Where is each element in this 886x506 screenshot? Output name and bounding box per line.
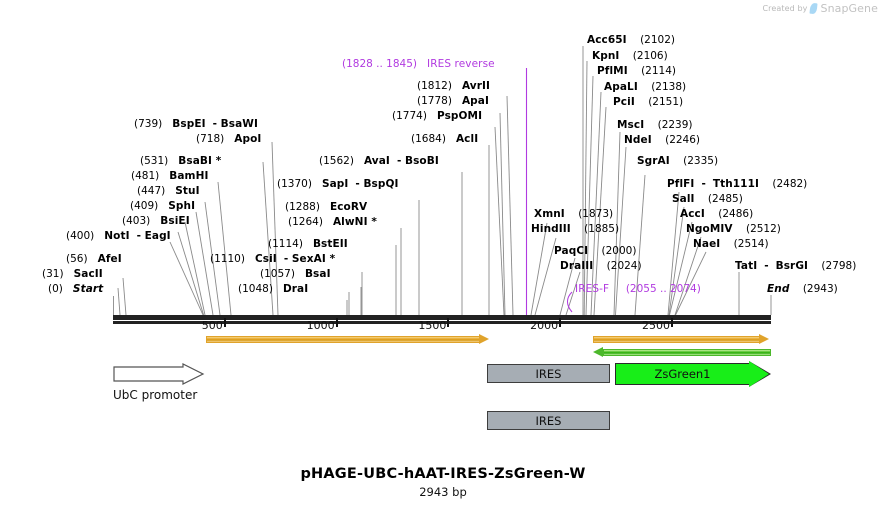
site-label-avrii[interactable]: (1812) AvrII [417,80,490,92]
leader-lines [0,0,886,506]
ruler-tick-label-1500: 1500 [402,319,446,332]
site-label-csii-sexai[interactable]: (1110) CsiI - SexAI * [210,253,335,265]
ruler-tick-1000 [336,318,338,327]
site-label-bsiei[interactable]: (403) BsiEI [122,215,190,227]
site-label-kpni[interactable]: KpnI (2106) [592,50,668,62]
ruler-tick-1500 [447,318,449,327]
site-label-end[interactable]: End (2943) [767,283,838,295]
page-title: pHAGE-UBC-hAAT-IRES-ZsGreen-W [0,466,886,482]
site-label-naei[interactable]: NaeI (2514) [693,238,769,250]
plasmid-length: 2943 bp [0,485,886,499]
site-label-sapi-bspqi[interactable]: (1370) SapI - BspQI [277,178,399,190]
feature-ires-row1[interactable]: IRES [487,364,610,383]
region-arrow-green-left [593,348,771,357]
ruler-tick-label-2000: 2000 [514,319,558,332]
site-label-acci[interactable]: AccI (2486) [680,208,753,220]
ruler-tick-label-1000: 1000 [291,319,335,332]
primer-range: (1828 .. 1845) [342,58,417,70]
site-label-acc65i[interactable]: Acc65I (2102) [587,34,675,46]
site-label-stui[interactable]: (447) StuI [137,185,200,197]
site-label-afei[interactable]: (56) AfeI [66,253,122,265]
ruler-tick-label-2500: 2500 [626,319,670,332]
site-label-paqci[interactable]: PaqCI (2000) [554,245,636,257]
site-label-alwni[interactable]: (1264) AlwNI * [288,216,377,228]
site-label-sacii[interactable]: (31) SacII [42,268,103,280]
site-label-draiii[interactable]: DraIII (2024) [560,260,642,272]
site-label-sphi[interactable]: (409) SphI [130,200,195,212]
ruler-tick-label-500: 500 [179,319,223,332]
site-label-msci[interactable]: MscI (2239) [617,119,693,131]
site-label-pflmi[interactable]: PflMI (2114) [597,65,676,77]
region-arrow-orange-right [593,335,771,344]
site-label-hindiii[interactable]: HindIII (1885) [531,223,619,235]
site-label-noti-eagi[interactable]: (400) NotI - EagI [66,230,171,242]
site-label-bstell[interactable]: (1114) BstEII [268,238,348,250]
site-label-start[interactable]: (0) Start [48,283,103,295]
site-label-apali[interactable]: ApaLI (2138) [604,81,686,93]
site-label-bamhi[interactable]: (481) BamHI [131,170,209,182]
region-arrow-orange-left [206,335,491,344]
feature-label-ubc-promoter: UbC promoter [113,388,197,402]
ruler-tick-2500 [671,318,673,327]
site-label-apai[interactable]: (1778) ApaI [417,95,489,107]
site-label-pflfi-tth111i[interactable]: PflFI - Tth111I (2482) [667,178,807,190]
ruler-tick-500 [224,318,226,327]
site-label-apoi[interactable]: (718) ApoI [196,133,261,145]
site-label-bsabi[interactable]: (531) BsaBI * [140,155,221,167]
site-label-bsai[interactable]: (1057) BsaI [260,268,331,280]
site-label-xmni[interactable]: XmnI (1873) [534,208,613,220]
site-label-avai-bsobi[interactable]: (1562) AvaI - BsoBI [319,155,439,167]
site-label-acli[interactable]: (1684) AclI [411,133,478,145]
primer-label-ires-reverse[interactable]: (1828 .. 1845) IRES reverse [342,58,495,70]
site-label-sali[interactable]: SalI (2485) [672,193,743,205]
site-label-ngomiv[interactable]: NgoMIV (2512) [686,223,781,235]
feature-label-ires-row2: IRES [536,414,562,428]
site-label-bspei-bsawi[interactable]: (739) BspEI - BsaWI [134,118,258,130]
primer-label-ires-f[interactable]: IRES-F (2055 .. 2074) [575,283,701,295]
ruler-tick-2000 [559,318,561,327]
site-label-pcii[interactable]: PciI (2151) [613,96,683,108]
created-by-label: Created by [762,4,807,13]
site-label-sgrai[interactable]: SgrAI (2335) [637,155,718,167]
site-label-drai[interactable]: (1048) DraI [238,283,308,295]
site-label-tati-bsrgi[interactable]: TatI - BsrGI (2798) [735,260,856,272]
primer-name: IRES reverse [427,58,495,70]
snapgene-brand: SnapGene [820,2,878,15]
feature-ires-row2[interactable]: IRES [487,411,610,430]
feature-label-zsgreen1: ZsGreen1 [654,367,710,381]
site-label-ndei[interactable]: NdeI (2246) [624,134,700,146]
site-label-pspomi[interactable]: (1774) PspOMI [392,110,482,122]
feature-ubc-promoter[interactable] [113,363,205,389]
feature-label-ires-row1: IRES [536,367,562,381]
feature-zsgreen1[interactable]: ZsGreen1 [615,363,770,385]
snapgene-leaf-icon [810,3,818,15]
snapgene-credit: Created by SnapGene [762,2,878,15]
site-label-ecorv[interactable]: (1288) EcoRV [285,201,367,213]
